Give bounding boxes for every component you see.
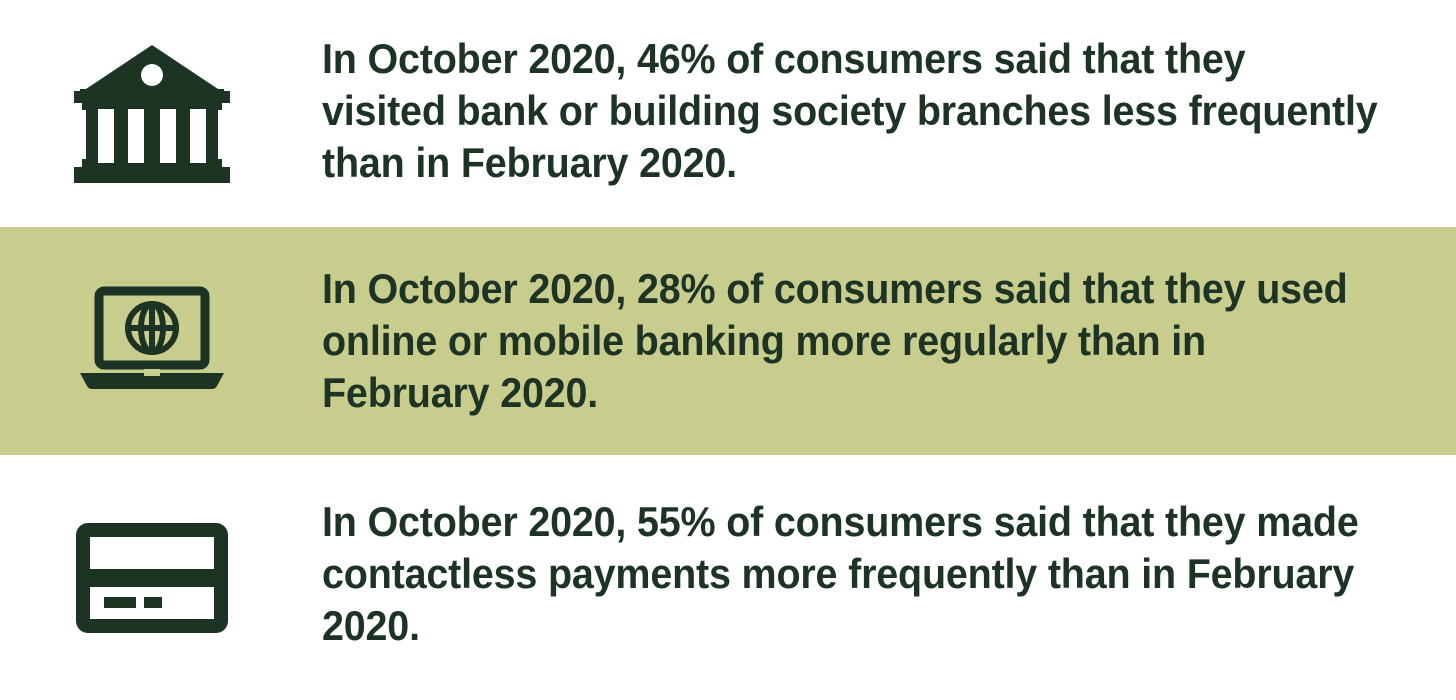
fact-text-bank-branches: In October 2020, 46% of consumers said t… bbox=[322, 33, 1379, 189]
fact-text-contactless-payments: In October 2020, 55% of consumers said t… bbox=[322, 496, 1379, 652]
credit-card-icon bbox=[72, 517, 232, 639]
icon-cell-card bbox=[0, 517, 322, 639]
infographic-panel: In October 2020, 46% of consumers said t… bbox=[0, 0, 1456, 700]
bank-building-icon bbox=[72, 39, 232, 189]
icon-cell-bank bbox=[0, 39, 322, 189]
fact-row-bank-branches: In October 2020, 46% of consumers said t… bbox=[0, 0, 1456, 227]
icon-cell-laptop bbox=[0, 281, 322, 401]
fact-text-online-banking: In October 2020, 28% of consumers said t… bbox=[322, 263, 1379, 419]
text-cell-laptop: In October 2020, 28% of consumers said t… bbox=[322, 263, 1456, 419]
fact-row-contactless-payments: In October 2020, 55% of consumers said t… bbox=[0, 455, 1456, 700]
laptop-globe-icon bbox=[72, 281, 232, 401]
text-cell-bank: In October 2020, 46% of consumers said t… bbox=[322, 39, 1456, 189]
fact-row-online-banking: In October 2020, 28% of consumers said t… bbox=[0, 227, 1456, 455]
text-cell-card: In October 2020, 55% of consumers said t… bbox=[322, 504, 1456, 652]
